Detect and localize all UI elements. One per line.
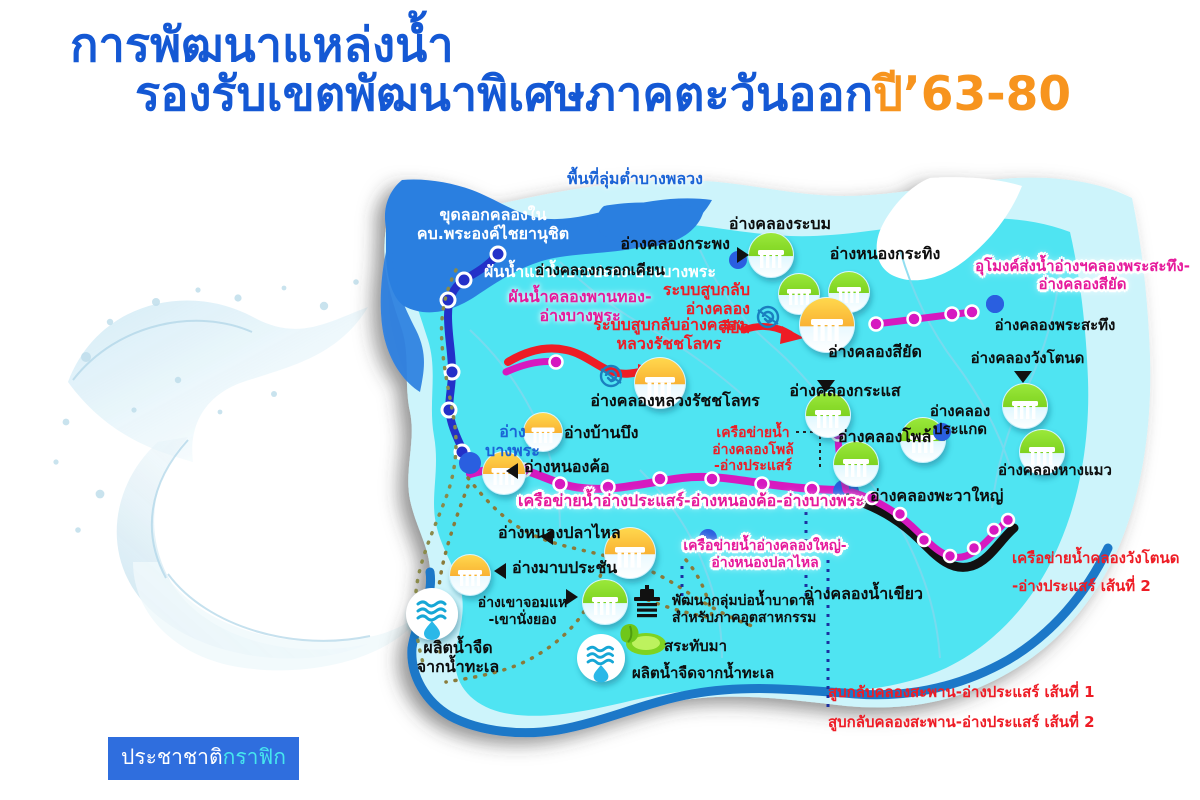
title-line-1: การพัฒนาแหล่งน้ำ [70, 22, 1100, 71]
label-res-phawayai: อ่างคลองพะวาใหญ่ [870, 487, 1003, 506]
infographic-canvas: การพัฒนาแหล่งน้ำ รองรับเขตพัฒนาพิเศษภาคต… [0, 0, 1200, 800]
label-res-wangtanot: อ่างคลองวังโตนด [940, 350, 1115, 368]
label-res-krokkian: อ่างคลองกรอกเคียน [500, 262, 700, 280]
title-line-2-text: รองรับเขตพัฒนาพิเศษภาคตะวันออก [135, 67, 873, 122]
label-res-khaochomhae: อ่างเขาจอมแห -เขานั่งยอง [460, 595, 585, 628]
label-pumpback-siyat: ระบบสูบกลับ อ่างคลอง สียัด [620, 281, 750, 338]
label-res-phrasathueng: อ่างคลองพระสะทึง [960, 317, 1150, 335]
label-net-phlo-prasae: เครือข่ายน้ำ อ่างคลองโพล้ -อ่างประแสร์ [688, 425, 818, 475]
credit-prefix: ประชาชาติ [121, 745, 223, 769]
label-res-luangratchalothon: อ่างคลองหลวงรัชชโลทร [570, 392, 780, 411]
credit-suffix: กราฟิก [223, 745, 286, 769]
label-net-khlongyai-nongplalai: เครือข่ายน้ำอ่างคลองใหญ่- อ่างหนองปลาไหล [660, 538, 870, 571]
label-res-nongkrathing: อ่างหนองกระทิง [795, 245, 975, 264]
pointer-triangle-icon [506, 463, 518, 479]
title-years: ปี’63-80 [873, 67, 1071, 122]
credit-badge: ประชาชาติกราฟิก [108, 737, 299, 780]
label-res-hangmaeo: อ่างคลองหางแมว [965, 462, 1145, 480]
label-res-banbueng: อ่างบ้านบึง [564, 424, 638, 443]
label-net-prasae-nongkho-bangphra: เครือข่ายน้ำอ่างประแสร์-อ่างหนองค้อ-อ่าง… [518, 492, 848, 511]
label-tunnel-phrasathueng: อุโมงค์ส่งน้ำอ่างฯคลองพระสะทึง- อ่างคลอง… [960, 258, 1200, 293]
label-net-wangtanot-prasae2: เครือข่ายน้ำคลองวังโตนด -อ่างประแสร์ เส้… [1012, 545, 1192, 601]
label-groundwater-industry: พัฒนากลุ่มบ่อน้ำบาดาล สำหรับภาคอุตสาหกรร… [672, 593, 816, 626]
page-title: การพัฒนาแหล่งน้ำ รองรับเขตพัฒนาพิเศษภาคต… [70, 22, 1100, 120]
label-res-bangphra: อ่าง บางพระ [470, 423, 555, 461]
label-res-namkhiao: อ่างคลองน้ำเขียว [804, 585, 923, 604]
label-res-siyat: อ่างคลองสียัด [790, 343, 960, 362]
label-desal-bottom: ผลิตน้ำจืดจากน้ำทะเล [632, 665, 774, 683]
label-res-nongplalai: อ่างหนองปลาไหล [498, 524, 621, 543]
label-basin-bangpluang: พื้นที่ลุ่มต่ำบางพลวง [520, 170, 750, 189]
label-res-rabom: อ่างคลองระบม [700, 215, 860, 234]
label-desal-left: ผลิตน้ำจืด จากน้ำทะเล [398, 639, 518, 677]
label-res-phlo: อ่างคลองโพล้ [838, 428, 931, 447]
pointer-triangle-icon [1014, 371, 1032, 383]
label-pump-saphan-prasae1: สูบกลับคลองสะพาน-อ่างประแสร์ เส้นที่ 1 [828, 684, 1095, 702]
label-res-mapprachan: อ่างมาบประชัน [512, 559, 617, 578]
label-res-krase: อ่างคลองกระแส [760, 382, 930, 401]
pointer-triangle-icon [494, 563, 506, 579]
label-res-kraphong: อ่างคลองกระพง [560, 235, 730, 254]
pointer-triangle-icon [737, 247, 749, 263]
label-res-nongkho: อ่างหนองค้อ [524, 458, 610, 477]
label-sa-thapma: สระทับมา [664, 638, 727, 656]
title-line-2: รองรับเขตพัฒนาพิเศษภาคตะวันออกปี’63-80 [135, 71, 1100, 120]
label-pump-saphan-prasae2: สูบกลับคลองสะพาน-อ่างประแสร์ เส้นที่ 2 [828, 714, 1095, 732]
